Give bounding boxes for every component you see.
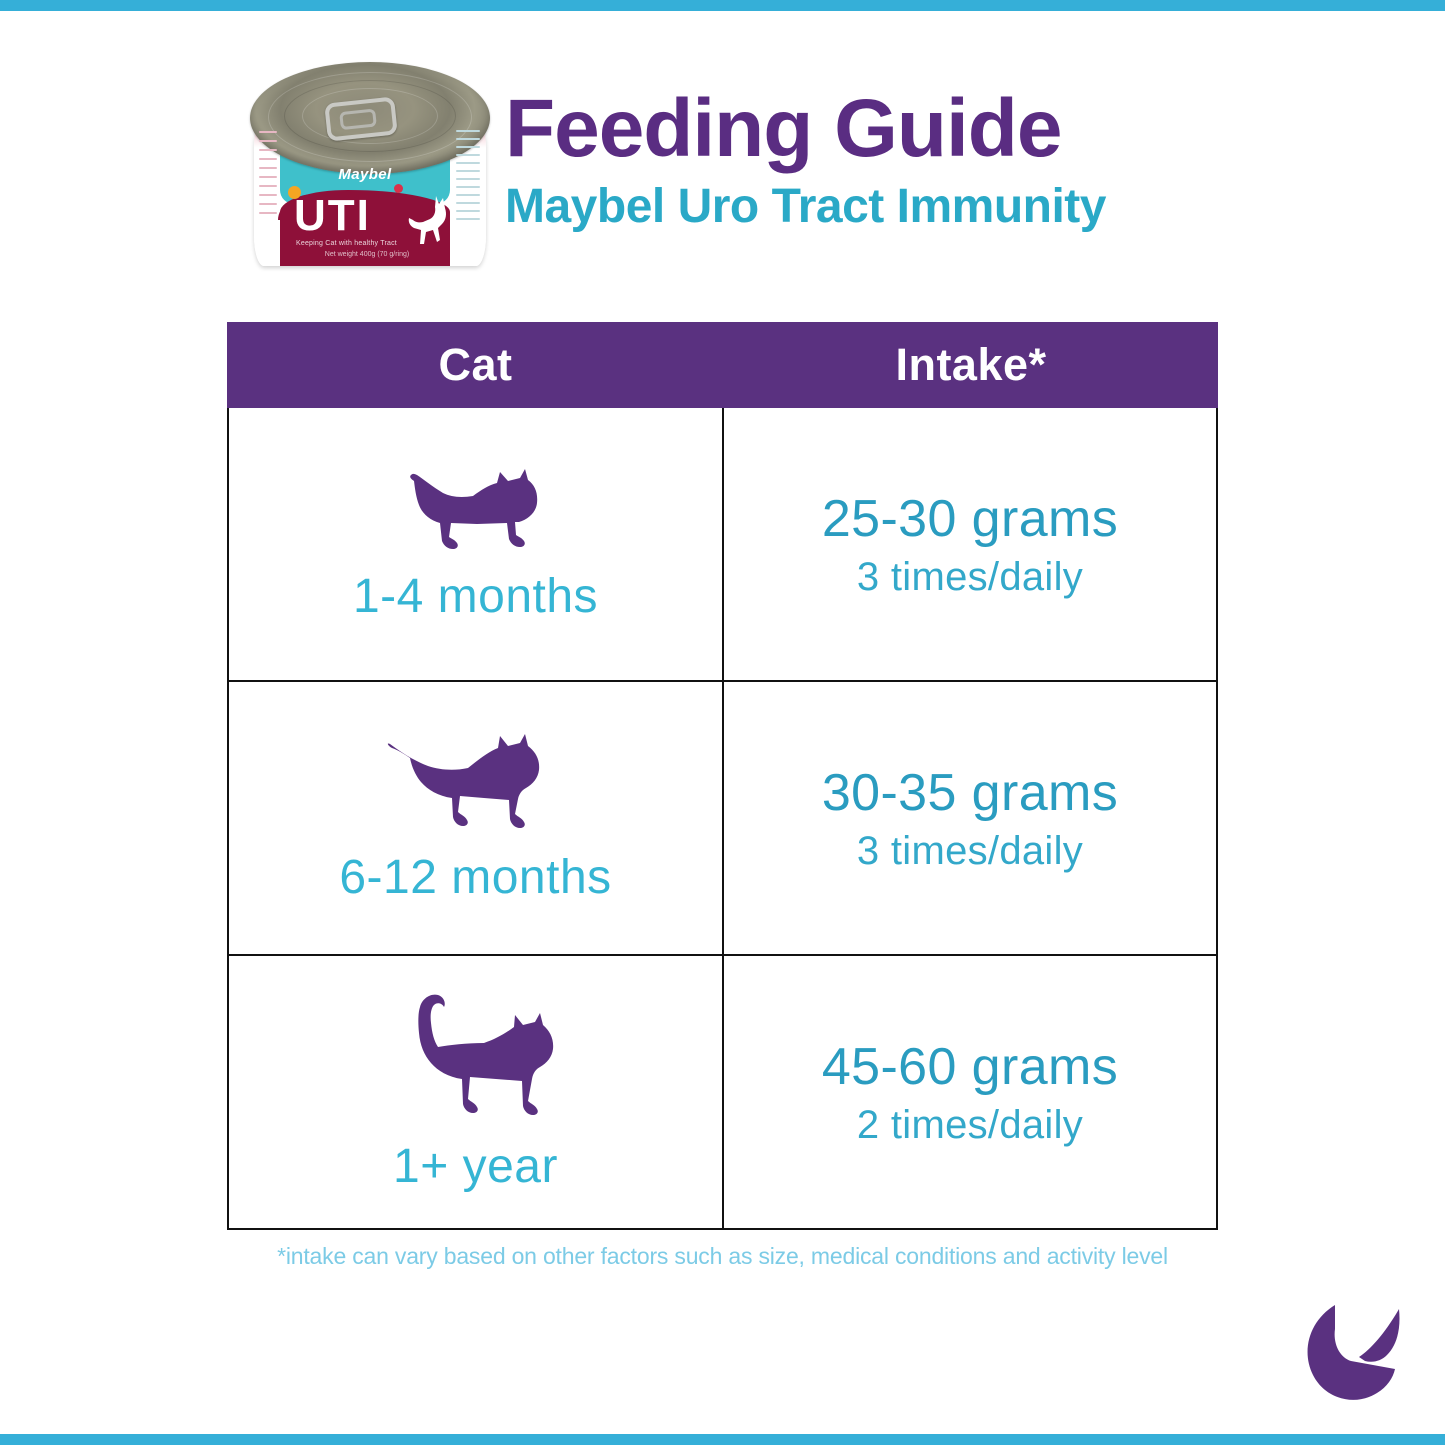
age-label: 6-12 months [339, 850, 611, 905]
young-cat-silhouette-icon [376, 732, 576, 842]
page-title: Feeding Guide [505, 86, 1205, 171]
can-pull-tab-icon [324, 96, 398, 141]
feeding-table: Cat Intake* 1-4 months 25-30 grams 3 tim… [227, 322, 1218, 1230]
header-section: Maybel UTI Keeping Cat with healthy Trac… [0, 38, 1445, 308]
intake-cell: 25-30 grams 3 times/daily [724, 408, 1216, 680]
intake-cell: 30-35 grams 3 times/daily [724, 682, 1216, 954]
intake-amount: 25-30 grams [822, 489, 1118, 549]
top-accent-bar [0, 0, 1445, 11]
column-header-cat: Cat [227, 322, 724, 408]
kitten-silhouette-icon [381, 465, 571, 561]
cat-cell: 6-12 months [229, 682, 724, 954]
intake-frequency: 2 times/daily [857, 1103, 1083, 1148]
table-body: 1-4 months 25-30 grams 3 times/daily 6-1… [227, 408, 1218, 1230]
can-product-name: UTI [294, 194, 371, 238]
intake-amount: 30-35 grams [822, 763, 1118, 823]
page-subtitle: Maybel Uro Tract Immunity [505, 181, 1205, 234]
can-brand-text: Maybel [280, 166, 450, 183]
can-tagline: Keeping Cat with healthy Tract [296, 240, 416, 247]
product-can-image: Maybel UTI Keeping Cat with healthy Trac… [238, 48, 506, 298]
table-row: 1-4 months 25-30 grams 3 times/daily [229, 408, 1216, 680]
label-stripes-left [256, 124, 280, 260]
title-block: Feeding Guide Maybel Uro Tract Immunity [505, 86, 1205, 234]
intake-frequency: 3 times/daily [857, 555, 1083, 600]
age-label: 1+ year [393, 1139, 558, 1194]
age-label: 1-4 months [353, 569, 598, 624]
bottom-accent-bar [0, 1434, 1445, 1445]
intake-frequency: 3 times/daily [857, 829, 1083, 874]
can-net-weight: Net weight 400g (70 g/ring) [292, 251, 442, 258]
footnote-text: *intake can vary based on other factors … [227, 1243, 1218, 1270]
can-cat-silhouette-icon [406, 192, 452, 250]
column-header-intake: Intake* [724, 322, 1218, 408]
intake-amount: 45-60 grams [822, 1037, 1118, 1097]
cat-cell: 1+ year [229, 956, 724, 1228]
cat-cell: 1-4 months [229, 408, 724, 680]
table-row: 6-12 months 30-35 grams 3 times/daily [229, 680, 1216, 954]
feeding-guide-infographic: Maybel UTI Keeping Cat with healthy Trac… [0, 0, 1445, 1445]
maybel-cat-crescent-logo-icon [1295, 1299, 1407, 1407]
table-row: 1+ year 45-60 grams 2 times/daily [229, 954, 1216, 1228]
label-stripes-right [452, 124, 484, 260]
intake-cell: 45-60 grams 2 times/daily [724, 956, 1216, 1228]
can-label-red-dot [394, 184, 403, 193]
table-header-row: Cat Intake* [227, 322, 1218, 408]
adult-cat-silhouette-icon [386, 991, 566, 1131]
